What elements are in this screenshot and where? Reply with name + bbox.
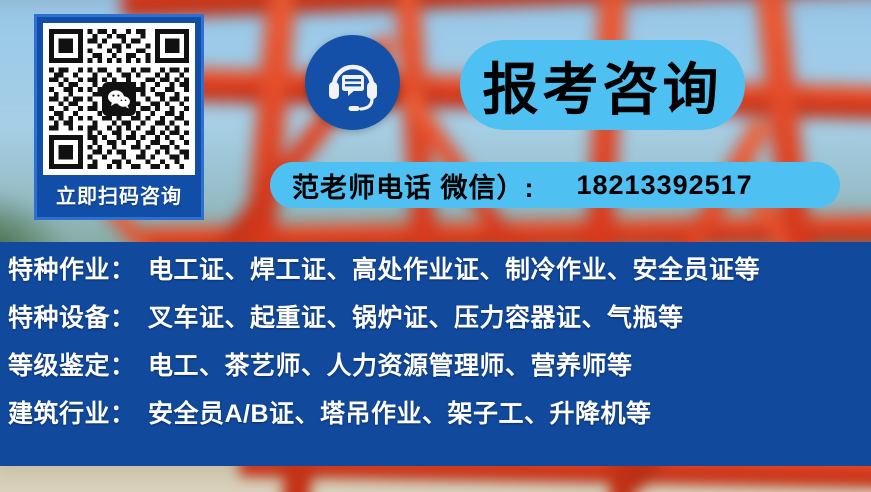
phone-number: 18213392517	[577, 170, 753, 201]
title-pill-label: 报考咨询	[483, 45, 723, 126]
info-row-label: 特种作业：	[8, 258, 148, 283]
info-row-value: 叉车证、起重证、锅炉证、压力容器证、气瓶等	[148, 306, 684, 331]
info-row: 特种作业： 电工证、焊工证、高处作业证、制冷作业、安全员证等	[8, 258, 871, 306]
info-row-label: 等级鉴定：	[8, 354, 148, 379]
info-row-label: 特种设备：	[8, 306, 148, 331]
qr-card[interactable]: 立即扫码咨询	[34, 14, 204, 220]
wechat-logo-icon	[102, 82, 136, 116]
phone-label: 范老师电话 微信）:	[292, 166, 535, 205]
bottom-photo-strip	[0, 466, 871, 492]
headset-support-icon	[322, 52, 384, 114]
bottom-photo-inner	[0, 466, 871, 492]
info-row: 建筑行业： 安全员A/B证、塔吊作业、架子工、升降机等	[8, 402, 871, 450]
headset-support-badge	[305, 35, 400, 130]
info-row-label: 建筑行业：	[8, 402, 148, 427]
info-row-value: 电工、茶艺师、人力资源管理师、营养师等	[148, 354, 633, 379]
info-row: 特种设备： 叉车证、起重证、锅炉证、压力容器证、气瓶等	[8, 306, 871, 354]
info-row-value: 安全员A/B证、塔吊作业、架子工、升降机等	[148, 402, 652, 427]
qr-code-image[interactable]	[43, 23, 195, 175]
title-pill[interactable]: 报考咨询	[460, 40, 745, 130]
services-info-band: 特种作业： 电工证、焊工证、高处作业证、制冷作业、安全员证等 特种设备： 叉车证…	[0, 242, 871, 466]
info-row: 等级鉴定： 电工、茶艺师、人力资源管理师、营养师等	[8, 354, 871, 402]
promo-poster: 立即扫码咨询 报考咨询 范老师电话 微信）: 18213392517	[0, 0, 871, 492]
info-row-value: 电工证、焊工证、高处作业证、制冷作业、安全员证等	[148, 258, 760, 283]
qr-caption: 立即扫码咨询	[56, 187, 182, 207]
phone-pill[interactable]: 范老师电话 微信）: 18213392517	[270, 162, 840, 208]
